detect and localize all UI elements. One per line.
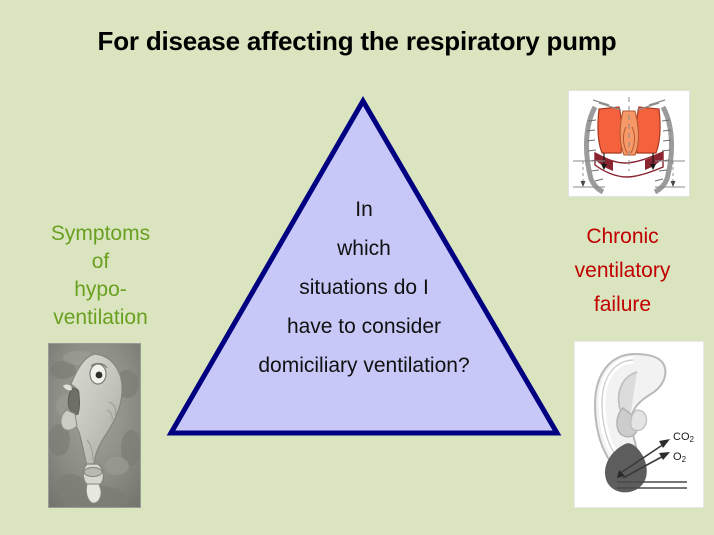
left-label-line-3: hypo- (8, 276, 193, 304)
triangle-question-text: In which situations do I have to conside… (163, 190, 565, 385)
page-title: For disease affecting the respiratory pu… (0, 26, 714, 57)
earlobe-blood-gas-image: CO2 O2 (574, 341, 704, 508)
gasping-figure-image (48, 343, 141, 508)
slide-canvas: For disease affecting the respiratory pu… (0, 0, 714, 535)
triangle-line-1: In (163, 190, 565, 229)
triangle-line-3: situations do I (163, 268, 565, 307)
left-label-line-1: Symptoms (8, 220, 193, 248)
symptoms-of-hypoventilation-label: Symptoms of hypo- ventilation (8, 220, 193, 332)
right-label-line-2: ventilatory (535, 254, 710, 288)
thorax-anatomy-image (568, 90, 690, 197)
left-label-line-4: ventilation (8, 304, 193, 332)
chronic-ventilatory-failure-label: Chronic ventilatory failure (535, 220, 710, 322)
triangle-line-4: have to consider (163, 307, 565, 346)
left-label-line-2: of (8, 248, 193, 276)
right-label-line-3: failure (535, 288, 710, 322)
triangle-line-2: which (163, 229, 565, 268)
triangle-line-5: domiciliary ventilation? (163, 346, 565, 385)
right-label-line-1: Chronic (535, 220, 710, 254)
